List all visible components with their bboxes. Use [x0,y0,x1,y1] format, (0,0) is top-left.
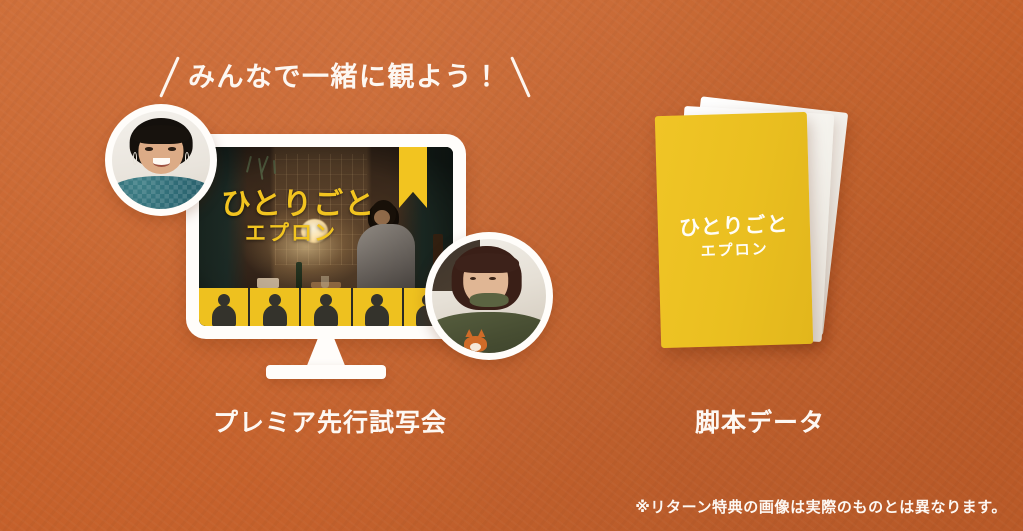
fox-motif-icon [464,329,487,352]
disclaimer-note: ※リターン特典の画像は実際のものとは異なります。 [635,496,1007,517]
script-title-main: ひとりごと [657,213,810,240]
participant-tile[interactable] [353,288,404,326]
avatar-right-photo [432,239,546,353]
avatar-body-icon [212,305,236,326]
script-cover-title: ひとりごと エプロン [657,213,811,261]
headline-group: みんなで一緒に観よう！ [168,55,522,99]
caption-script-data: 脚本データ [620,403,900,439]
avatar-left-photo [112,111,210,209]
slash-right-icon [510,56,531,97]
participant-tile[interactable] [199,288,250,326]
slash-left-icon [159,56,180,97]
avatar-right [425,232,553,360]
monitor-screen: ひとりごと エプロン [199,147,453,326]
participant-strip [199,288,453,326]
monitor-stand-base [266,365,386,379]
premiere-screening-item: ひとりごと エプロン [100,104,560,389]
monitor-frame: ひとりごと エプロン [186,134,466,339]
avatar-left [105,104,217,216]
avatar-body-icon [263,305,287,326]
script-cover: ひとりごと エプロン [655,112,813,348]
reward-banner: みんなで一緒に観よう！ [0,0,1023,531]
monitor-stand-neck [306,336,346,368]
participant-tile[interactable] [301,288,352,326]
avatar-body-icon [365,305,389,326]
script-title-sub: エプロン [658,240,810,261]
avatar-body-icon [314,305,338,326]
headline-text: みんなで一緒に観よう！ [188,64,502,91]
script-data-item: ひとりごと エプロン [630,100,890,380]
participant-tile[interactable] [250,288,301,326]
caption-premiere-screening: プレミア先行試写会 [120,403,540,439]
